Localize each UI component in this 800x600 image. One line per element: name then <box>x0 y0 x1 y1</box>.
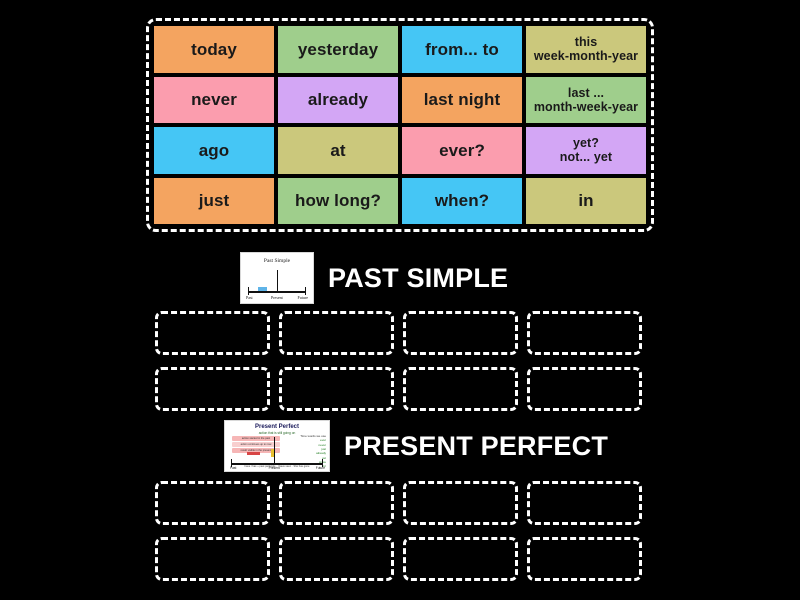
word-tile[interactable]: last ... month-week-year <box>526 77 646 124</box>
word-tile[interactable]: last night <box>402 77 522 124</box>
present-perfect-bar-1: action started in the past <box>232 436 280 441</box>
present-perfect-past-event-marker <box>247 452 260 455</box>
section-header-past-simple: Past Simple Past Present Future PAST SIM… <box>240 252 508 304</box>
word-tile[interactable]: ever? <box>402 127 522 174</box>
past-simple-label-present: Present <box>271 295 283 300</box>
past-simple-axis-line <box>248 291 306 293</box>
word-tile[interactable]: when? <box>402 178 522 225</box>
dropzone-past-simple[interactable] <box>403 367 518 411</box>
word-tile[interactable]: just <box>154 178 274 225</box>
past-simple-event-marker <box>258 287 267 291</box>
word-tile[interactable]: how long? <box>278 178 398 225</box>
word-tile[interactable]: never <box>154 77 274 124</box>
dropzone-group-present-perfect <box>155 481 642 581</box>
word-tile[interactable]: at <box>278 127 398 174</box>
dropzone-past-simple[interactable] <box>527 311 642 355</box>
dropzone-present-perfect[interactable] <box>155 481 270 525</box>
dropzone-present-perfect[interactable] <box>279 537 394 581</box>
dropzone-present-perfect[interactable] <box>155 537 270 581</box>
present-perfect-thumb-title: Present Perfect <box>225 424 329 430</box>
word-tile[interactable]: yet? not... yet <box>526 127 646 174</box>
dropzone-group-past-simple <box>155 311 642 411</box>
present-perfect-bar-2: action continues up to now <box>232 442 280 447</box>
dropzone-present-perfect[interactable] <box>527 537 642 581</box>
word-tile[interactable]: today <box>154 26 274 73</box>
dropzone-past-simple[interactable] <box>279 311 394 355</box>
dropzone-present-perfect[interactable] <box>403 481 518 525</box>
section-title-past-simple: PAST SIMPLE <box>328 263 508 294</box>
present-perfect-present-divider <box>274 437 275 463</box>
word-tile[interactable]: already <box>278 77 398 124</box>
dropzone-present-perfect[interactable] <box>279 481 394 525</box>
dropzone-present-perfect[interactable] <box>527 481 642 525</box>
dropzone-past-simple[interactable] <box>155 367 270 411</box>
dropzone-past-simple[interactable] <box>403 311 518 355</box>
activity-canvas: todayyesterdayfrom... tothis week-month-… <box>0 0 800 600</box>
past-simple-timeline-image[interactable]: Past Simple Past Present Future <box>240 252 314 304</box>
past-simple-tick-past <box>248 287 249 295</box>
dropzone-past-simple[interactable] <box>155 311 270 355</box>
word-tile[interactable]: ago <box>154 127 274 174</box>
dropzone-past-simple[interactable] <box>279 367 394 411</box>
word-tile-bank: todayyesterdayfrom... tothis week-month-… <box>146 18 654 232</box>
dropzone-present-perfect[interactable] <box>403 537 518 581</box>
section-header-present-perfect: Present Perfect action that is still goi… <box>224 420 608 472</box>
word-tile[interactable]: from... to <box>402 26 522 73</box>
past-simple-present-marker <box>277 270 278 291</box>
past-simple-thumb-title: Past Simple <box>241 258 313 264</box>
past-simple-label-future: Future <box>298 295 308 300</box>
present-perfect-diagram-image[interactable]: Present Perfect action that is still goi… <box>224 420 330 472</box>
past-simple-label-past: Past <box>246 295 253 300</box>
word-tile-grid: todayyesterdayfrom... tothis week-month-… <box>154 26 646 224</box>
word-tile[interactable]: yesterday <box>278 26 398 73</box>
word-tile[interactable]: in <box>526 178 646 225</box>
section-title-present-perfect: PRESENT PERFECT <box>344 431 608 462</box>
dropzone-past-simple[interactable] <box>527 367 642 411</box>
word-tile[interactable]: this week-month-year <box>526 26 646 73</box>
present-perfect-footnote: have / has + past participle · I have se… <box>225 465 329 469</box>
past-simple-tick-future <box>305 287 306 295</box>
